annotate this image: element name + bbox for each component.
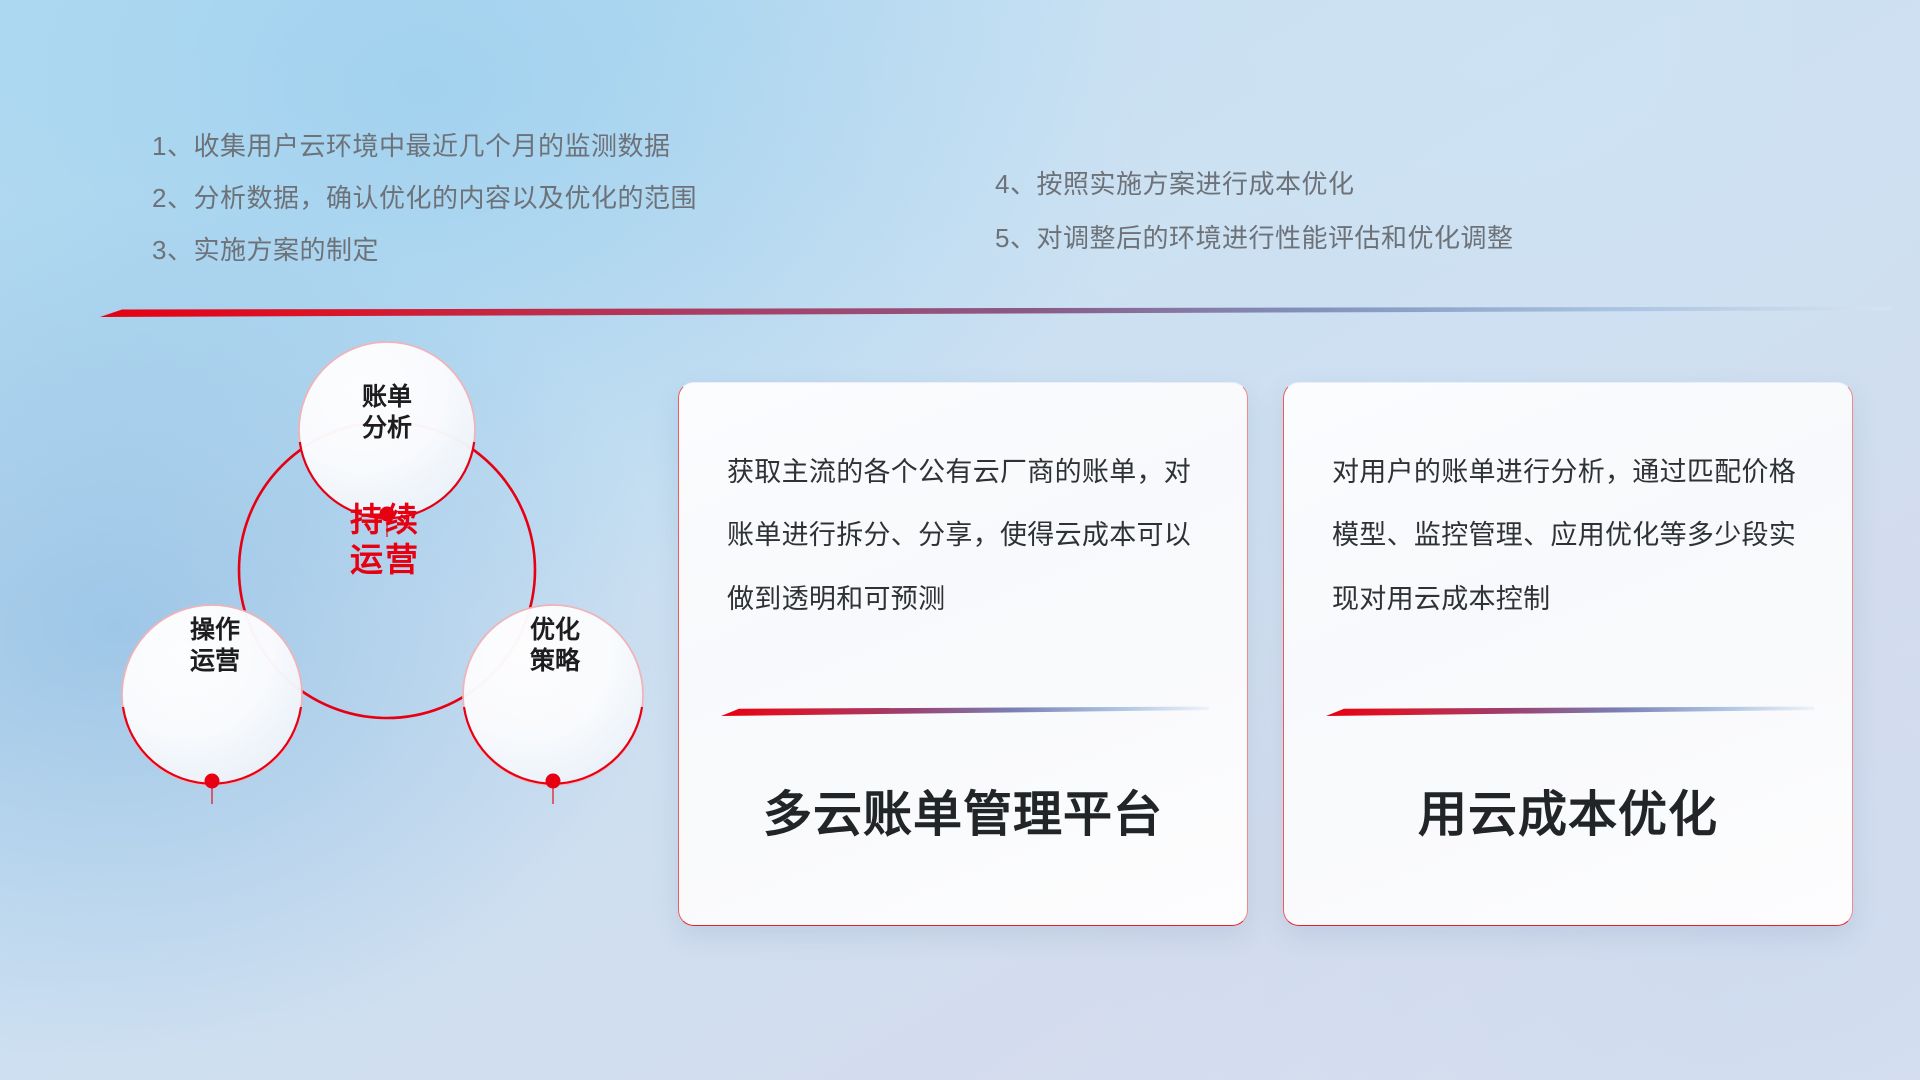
step-item: 1、收集用户云环境中最近几个月的监测数据 bbox=[152, 120, 697, 172]
section-divider bbox=[100, 306, 1892, 318]
connector-dot-strategy bbox=[546, 774, 561, 789]
card-accent-rule bbox=[721, 706, 1209, 717]
step-item: 4、按照实施方案进行成本优化 bbox=[995, 157, 1513, 211]
slide-canvas: 1、收集用户云环境中最近几个月的监测数据 2、分析数据，确认优化的内容以及优化的… bbox=[0, 0, 1920, 1080]
step-item: 3、实施方案的制定 bbox=[152, 224, 697, 276]
card-accent-rule bbox=[1326, 706, 1814, 717]
connector-dot-ops bbox=[205, 774, 220, 789]
feature-card-multi-cloud-billing[interactable]: 获取主流的各个公有云厂商的账单，对账单进行拆分、分享，使得云成本可以做到透明和可… bbox=[678, 382, 1248, 926]
card-title: 用云成本优化 bbox=[1284, 775, 1852, 846]
diagram-center-label: 持续 运营 bbox=[290, 500, 480, 579]
feature-card-cloud-cost-optimization[interactable]: 对用户的账单进行分析，通过匹配价格模型、监控管理、应用优化等多少段实现对用云成本… bbox=[1283, 382, 1853, 926]
steps-right-column: 4、按照实施方案进行成本优化 5、对调整后的环境进行性能评估和优化调整 bbox=[995, 157, 1513, 265]
step-item: 5、对调整后的环境进行性能评估和优化调整 bbox=[995, 211, 1513, 265]
step-item: 2、分析数据，确认优化的内容以及优化的范围 bbox=[152, 172, 697, 224]
diagram-graphics bbox=[90, 330, 660, 830]
continuous-operations-diagram: 账单 分析 操作 运营 优化 策略 持续 运营 bbox=[90, 330, 660, 830]
steps-left-column: 1、收集用户云环境中最近几个月的监测数据 2、分析数据，确认优化的内容以及优化的… bbox=[152, 120, 697, 276]
card-description: 获取主流的各个公有云厂商的账单，对账单进行拆分、分享，使得云成本可以做到透明和可… bbox=[727, 441, 1207, 631]
card-title: 多云账单管理平台 bbox=[679, 775, 1247, 846]
card-description: 对用户的账单进行分析，通过匹配价格模型、监控管理、应用优化等多少段实现对用云成本… bbox=[1332, 441, 1812, 631]
